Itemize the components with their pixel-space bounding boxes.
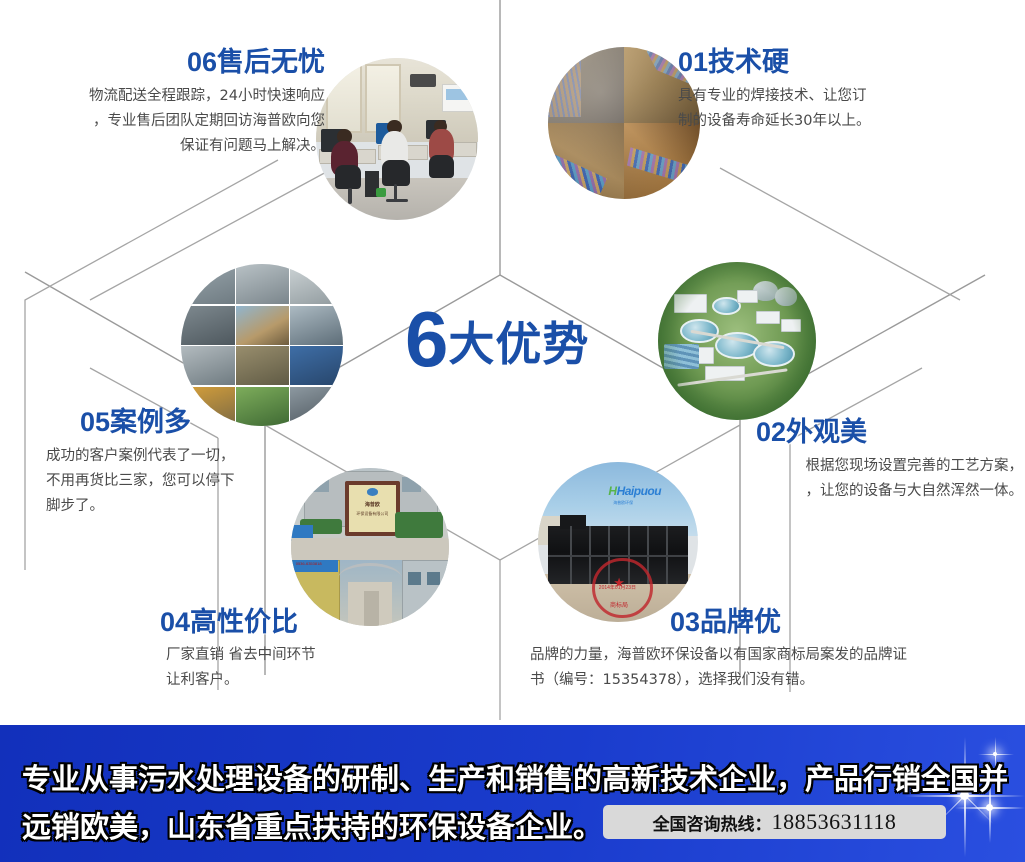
advantage-06-number: 06 bbox=[187, 47, 217, 77]
advantage-06-heading: 06售后无忧 bbox=[0, 45, 325, 79]
advantage-02-number: 02 bbox=[756, 417, 786, 447]
infographic-root: HHaipuou 海普欧环保 ★ 2014年01月23日 商标局 海普欧 环保设… bbox=[0, 0, 1025, 862]
hotline-badge[interactable]: 全国咨询热线：18853631118 bbox=[603, 805, 946, 839]
advantage-05: 05案例多 成功的客户案例代表了一切， 不用再货比三家，您可以停下 脚步了。 bbox=[30, 405, 360, 519]
hotline-number: 18853631118 bbox=[772, 809, 897, 835]
advantage-03-line-1: 品牌的力量，海普欧环保设备以有国家商标局案发的品牌证 bbox=[530, 643, 1010, 668]
advantage-03-heading: 03品牌优 bbox=[530, 605, 1010, 639]
advantage-02-line-1: 根据您现场设置完善的工艺方案， bbox=[628, 454, 1023, 479]
advantage-06-line-2: ，专业售后团队定期回访海普欧向您 bbox=[0, 109, 325, 134]
photo-after-sales-office bbox=[316, 58, 478, 220]
advantage-03-number: 03 bbox=[670, 607, 700, 637]
advantage-04-heading: 04高性价比 bbox=[130, 605, 510, 639]
advantage-03: 03品牌优 品牌的力量，海普欧环保设备以有国家商标局案发的品牌证 书（编号：15… bbox=[530, 605, 1010, 693]
banner-line-1: 专业从事污水处理设备的研制、生产和销售的高新技术企业，产品行销全国并 bbox=[22, 754, 1008, 804]
advantage-05-line-2: 不用再货比三家，您可以停下 bbox=[46, 469, 360, 494]
advantage-06-line-1: 物流配送全程跟踪，24小时快速响应 bbox=[0, 84, 325, 109]
advantage-05-number: 05 bbox=[80, 407, 110, 437]
center-word: 大优势 bbox=[448, 318, 589, 370]
advantage-01-title: 技术硬 bbox=[708, 47, 789, 77]
advantage-03-title: 品牌优 bbox=[700, 607, 781, 637]
advantage-06: 06售后无忧 物流配送全程跟踪，24小时快速响应 ，专业售后团队定期回访海普欧向… bbox=[0, 45, 325, 159]
advantage-01-number: 01 bbox=[678, 47, 708, 77]
photo-project-cases-grid bbox=[181, 264, 343, 426]
advantage-04-line-2: 让利客户。 bbox=[166, 668, 510, 693]
advantage-01-heading: 01技术硬 bbox=[678, 45, 1018, 79]
advantage-06-line-3: 保证有问题马上解决。 bbox=[0, 134, 325, 159]
advantage-01-line-1: 具有专业的焊接技术、让您订 bbox=[678, 84, 1018, 109]
advantage-04-number: 04 bbox=[160, 607, 190, 637]
advantage-04: 04高性价比 厂家直销 省去中间环节 让利客户。 bbox=[130, 605, 510, 693]
advantage-01-line-2: 制的设备寿命延长30年以上。 bbox=[678, 109, 1018, 134]
advantage-04-line-1: 厂家直销 省去中间环节 bbox=[166, 643, 510, 668]
gate-phone: 0536-6353818 bbox=[296, 561, 322, 566]
advantage-05-line-1: 成功的客户案例代表了一切， bbox=[46, 444, 360, 469]
advantage-02-line-2: ，让您的设备与大自然浑然一体。 bbox=[628, 479, 1023, 504]
advantage-05-line-3: 脚步了。 bbox=[46, 494, 360, 519]
advantage-02-title: 外观美 bbox=[786, 417, 867, 447]
advantage-05-heading: 05案例多 bbox=[30, 405, 360, 439]
center-title: 6大优势 bbox=[405, 300, 589, 378]
bottom-banner: 专业从事污水处理设备的研制、生产和销售的高新技术企业，产品行销全国并 远销欧美，… bbox=[0, 725, 1025, 862]
seal-date: 2014年01月23日 bbox=[599, 584, 636, 591]
advantage-05-title: 案例多 bbox=[110, 407, 191, 437]
advantage-03-line-2: 书（编号：15354378），选择我们没有错。 bbox=[530, 668, 1010, 693]
hotline-label: 全国咨询热线： bbox=[653, 810, 772, 835]
center-number: 6 bbox=[405, 295, 448, 383]
banner-line-2: 远销欧美，山东省重点扶持的环保设备企业。 bbox=[22, 802, 602, 852]
advantage-02-heading: 02外观美 bbox=[628, 415, 1023, 449]
advantage-01: 01技术硬 具有专业的焊接技术、让您订 制的设备寿命延长30年以上。 bbox=[678, 45, 1018, 134]
advantage-04-title: 高性价比 bbox=[190, 607, 298, 637]
advantage-06-title: 售后无忧 bbox=[217, 47, 325, 77]
advantage-02: 02外观美 根据您现场设置完善的工艺方案， ，让您的设备与大自然浑然一体。 bbox=[628, 415, 1023, 504]
photo-plant-aerial-view bbox=[658, 262, 816, 420]
